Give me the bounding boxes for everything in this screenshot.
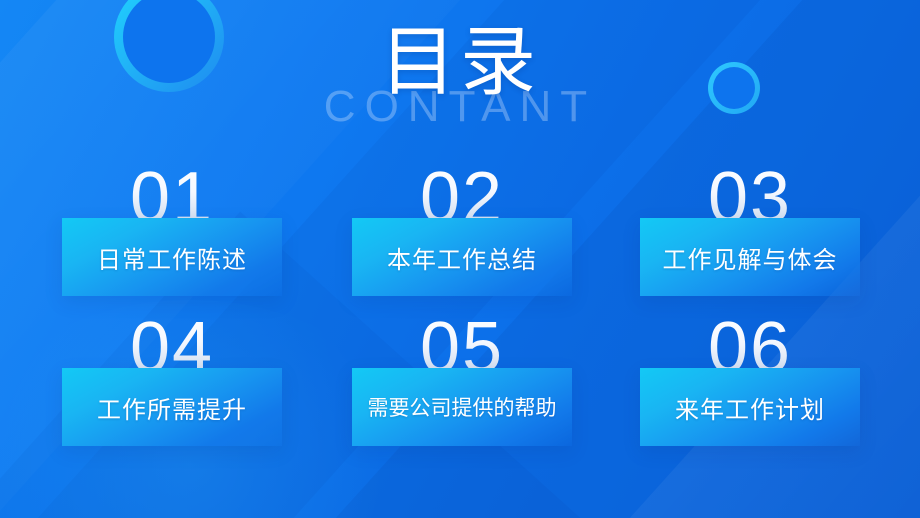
item-card[interactable]: 来年工作计划 [640,368,860,446]
item-label: 本年工作总结 [387,240,537,275]
item-card[interactable]: 工作所需提升 [62,368,282,446]
slide-canvas: CONTANT 目录 01 日常工作陈述 02 本年工作总结 03 工作见解与体… [0,0,920,518]
contents-grid: 01 日常工作陈述 02 本年工作总结 03 工作见解与体会 04 [62,160,862,460]
item-card[interactable]: 需要公司提供的帮助 [352,368,572,446]
contents-row-2: 04 工作所需提升 05 需要公司提供的帮助 06 来年工作计划 [62,310,862,460]
item-card[interactable]: 工作见解与体会 [640,218,860,296]
item-label: 工作见解与体会 [663,240,838,275]
item-label: 工作所需提升 [97,390,247,425]
item-label: 需要公司提供的帮助 [368,392,557,422]
page-title: 目录 [0,24,920,100]
item-label: 来年工作计划 [675,390,825,425]
item-card[interactable]: 日常工作陈述 [62,218,282,296]
item-label: 日常工作陈述 [97,240,247,275]
slide-header: 目录 [0,24,920,100]
contents-row-1: 01 日常工作陈述 02 本年工作总结 03 工作见解与体会 [62,160,862,310]
item-card[interactable]: 本年工作总结 [352,218,572,296]
